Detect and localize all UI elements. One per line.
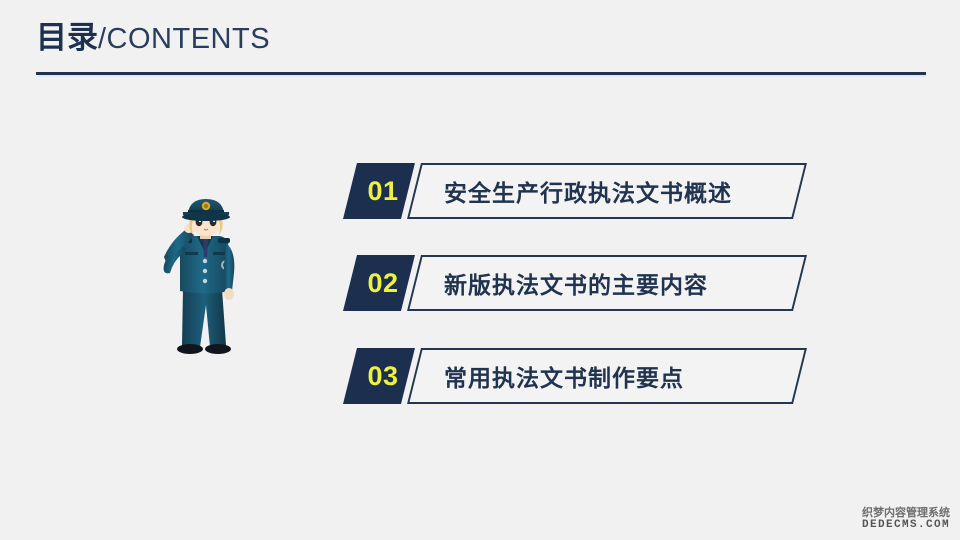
contents-item-01[interactable]: 01 安全生产行政执法文书概述: [350, 163, 810, 219]
contents-item-label-03: 常用执法文书制作要点: [414, 348, 800, 404]
slide-canvas: 目录/CONTENTS: [0, 0, 960, 540]
contents-item-02[interactable]: 02 新版执法文书的主要内容: [350, 255, 810, 311]
contents-item-label-02: 新版执法文书的主要内容: [414, 255, 800, 311]
watermark-en: DEDECMS.COM: [862, 519, 950, 532]
contents-item-label-01: 安全生产行政执法文书概述: [414, 163, 800, 219]
number-label-03: 03: [354, 348, 412, 404]
contents-list: 01 安全生产行政执法文书概述 02 新版执法文书的主要内容 03 常用执法文书…: [0, 0, 960, 540]
watermark-cn: 织梦内容管理系统: [862, 507, 950, 520]
number-label-02: 02: [354, 255, 412, 311]
number-label-01: 01: [354, 163, 412, 219]
watermark: 织梦内容管理系统 DEDECMS.COM: [862, 507, 950, 532]
contents-item-03[interactable]: 03 常用执法文书制作要点: [350, 348, 810, 404]
